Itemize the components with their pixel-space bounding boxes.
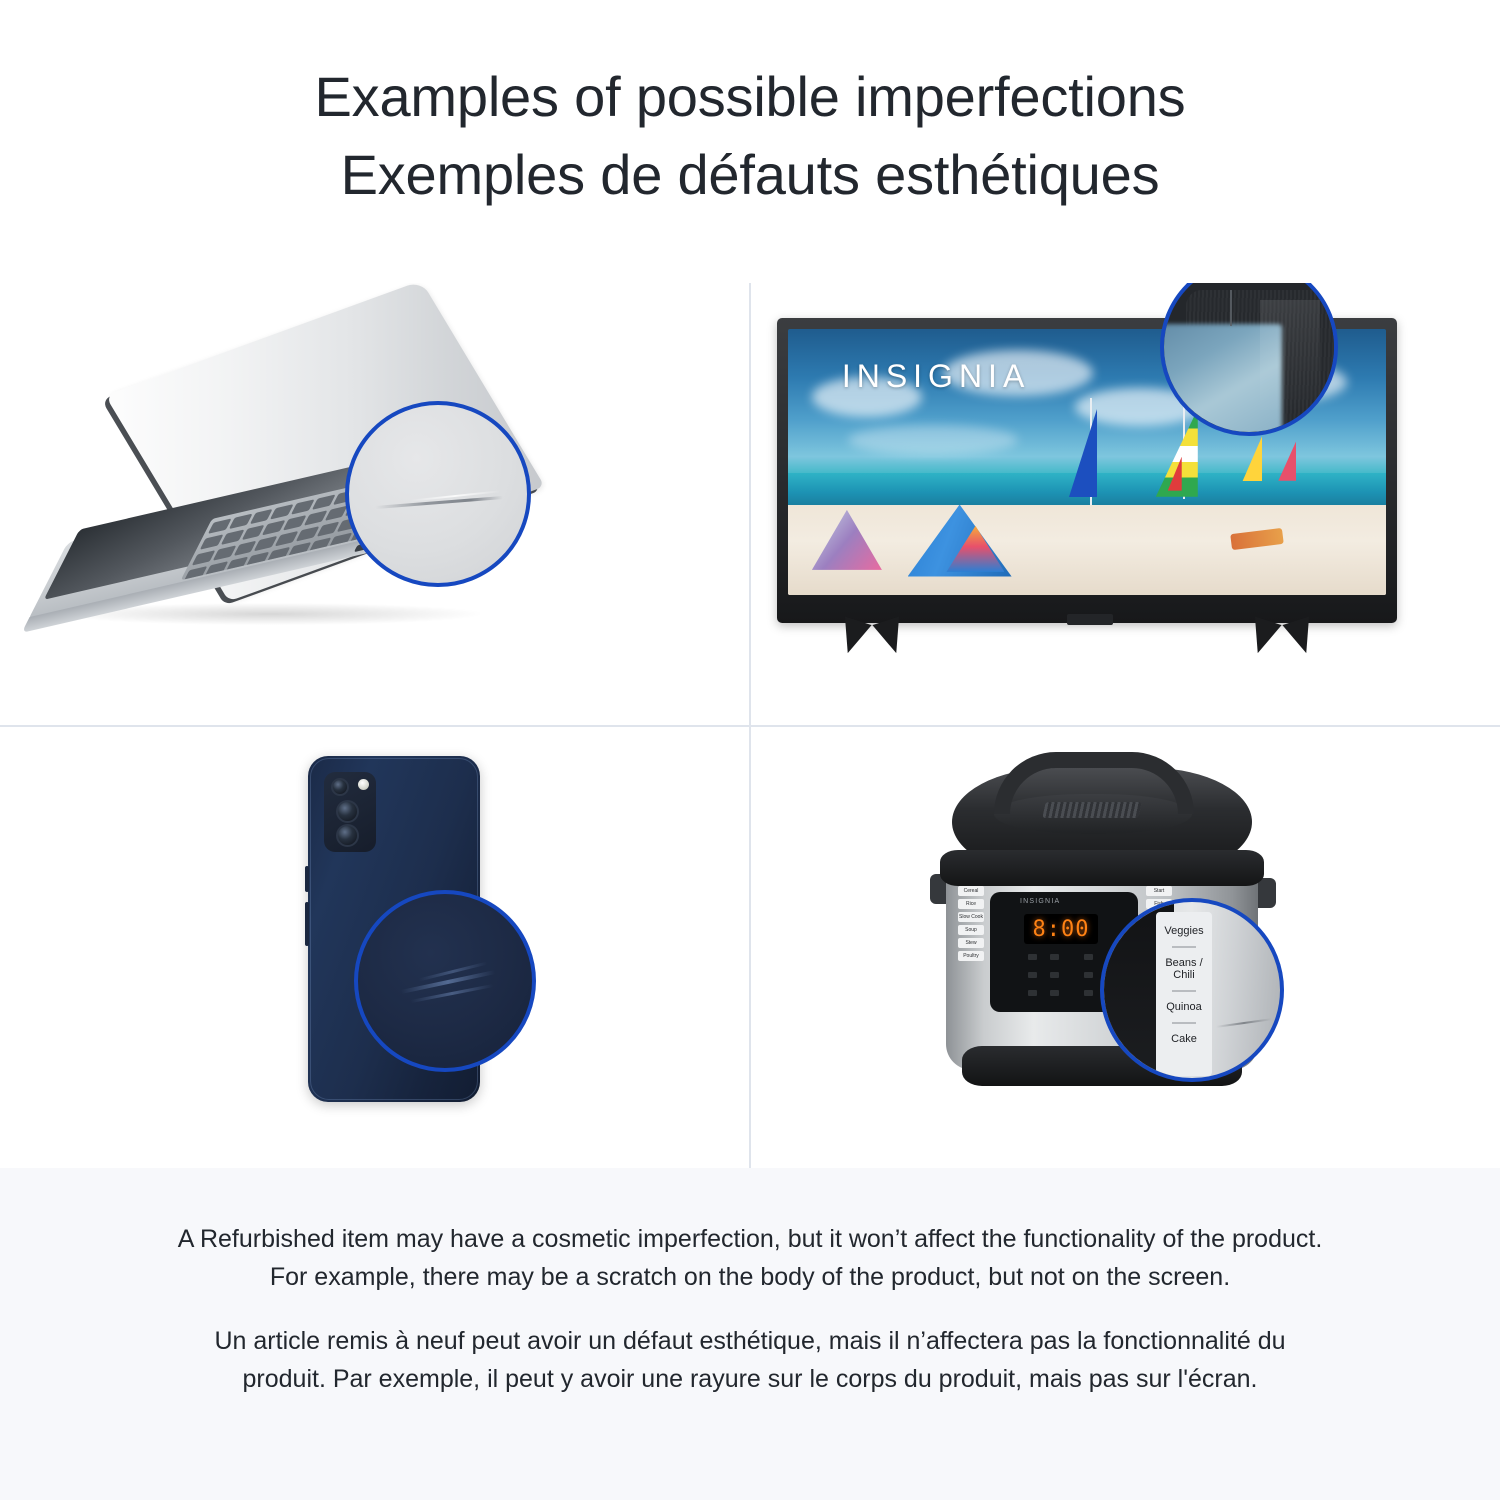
cloud-shape (848, 425, 1018, 455)
cooker-button-warm[interactable] (1050, 954, 1059, 960)
cooker-illustration: INSIGNIA 8:00 Cereal Rice (932, 746, 1332, 1146)
tv-scuff-mark (1260, 300, 1320, 410)
cooker-display: 8:00 (1024, 914, 1098, 944)
cooker-button-slowcook[interactable] (1050, 990, 1059, 996)
example-phone (0, 728, 748, 1168)
disclaimer-french: Un article remis à neuf peut avoir un dé… (170, 1322, 1330, 1398)
example-pressure-cooker: INSIGNIA 8:00 Cereal Rice (752, 728, 1500, 1168)
cooker-right-button[interactable]: Start (1146, 886, 1172, 896)
cooker-left-button[interactable]: Rice (958, 899, 984, 909)
cooker-left-button[interactable]: Stew (958, 938, 984, 948)
title-english: Examples of possible imperfections (0, 58, 1500, 136)
cooker-button-strip-zoom: Veggies Beans / Chili Quinoa Cake (1156, 912, 1212, 1076)
phone-camera-module (324, 772, 376, 852)
tv-scene-sand (788, 505, 1386, 595)
laptop-illustration (40, 303, 600, 703)
camera-lens-1 (331, 778, 349, 796)
magnified-button-label: Quinoa (1156, 1001, 1212, 1013)
footer-disclaimer: A Refurbished item may have a cosmetic i… (0, 1168, 1500, 1500)
cooker-button-keepwarm[interactable] (1050, 972, 1059, 978)
examples-grid: INSIGNIA (0, 283, 1500, 1168)
cooker-brand-label: INSIGNIA (1020, 898, 1060, 905)
grid-divider-horizontal (0, 725, 1500, 727)
cooker-scratch-mark (1216, 1018, 1272, 1028)
cooker-button-steam[interactable] (1028, 990, 1037, 996)
page-title: Examples of possible imperfections Exemp… (0, 58, 1500, 214)
cooker-button-more[interactable] (1084, 954, 1093, 960)
cooker-left-button[interactable]: Poultry (958, 951, 984, 961)
tv-magnifier-circle (1160, 283, 1338, 436)
magnified-button-label: Veggies (1156, 925, 1212, 937)
cooker-button-manual[interactable] (1028, 972, 1037, 978)
tv-brand-logo: INSIGNIA (842, 358, 1030, 395)
refurbished-imperfections-infographic: Examples of possible imperfections Exemp… (0, 0, 1500, 1500)
cooker-button-ricecook[interactable] (1084, 990, 1093, 996)
sail-yellow (1242, 435, 1262, 481)
cooker-magnifier-circle: Veggies Beans / Chili Quinoa Cake (1100, 898, 1284, 1082)
tv-bottom-badge (1067, 614, 1113, 625)
phone-power-button[interactable] (305, 902, 309, 946)
camera-lens-2 (336, 800, 359, 823)
cooker-collar (940, 850, 1264, 886)
cooker-left-button-column[interactable]: Cereal Rice Slow Cook Soup Stew Poultry (958, 886, 984, 964)
camera-lens-3 (336, 824, 359, 847)
button-separator (1172, 990, 1196, 992)
tv-bezel-seam (1230, 290, 1232, 326)
button-separator (1172, 1022, 1196, 1024)
tv-illustration: INSIGNIA (777, 318, 1477, 708)
phone-magnifier-circle (354, 890, 536, 1072)
title-french: Exemples de défauts esthétiques (0, 136, 1500, 214)
cooker-handle[interactable] (994, 752, 1194, 814)
magnified-button-label: Beans / Chili (1156, 957, 1212, 981)
example-laptop (0, 283, 748, 724)
phone-illustration (258, 756, 558, 1146)
cooker-left-button[interactable]: Cereal (958, 886, 984, 896)
cooker-left-button[interactable]: Slow Cook (958, 912, 984, 922)
button-separator (1172, 946, 1196, 948)
sail-blue (1069, 409, 1097, 497)
cooker-button-delay[interactable] (1084, 972, 1093, 978)
cooker-button-less[interactable] (1028, 954, 1037, 960)
disclaimer-english: A Refurbished item may have a cosmetic i… (170, 1220, 1330, 1296)
example-tv: INSIGNIA (752, 283, 1500, 724)
camera-flash-icon (358, 779, 369, 790)
laptop-magnifier-circle (345, 401, 531, 587)
cooker-left-button[interactable]: Soup (958, 925, 984, 935)
cooker-display-time: 8:00 (1033, 917, 1090, 942)
magnified-button-label: Cake (1156, 1033, 1212, 1045)
phone-volume-button[interactable] (305, 866, 309, 892)
